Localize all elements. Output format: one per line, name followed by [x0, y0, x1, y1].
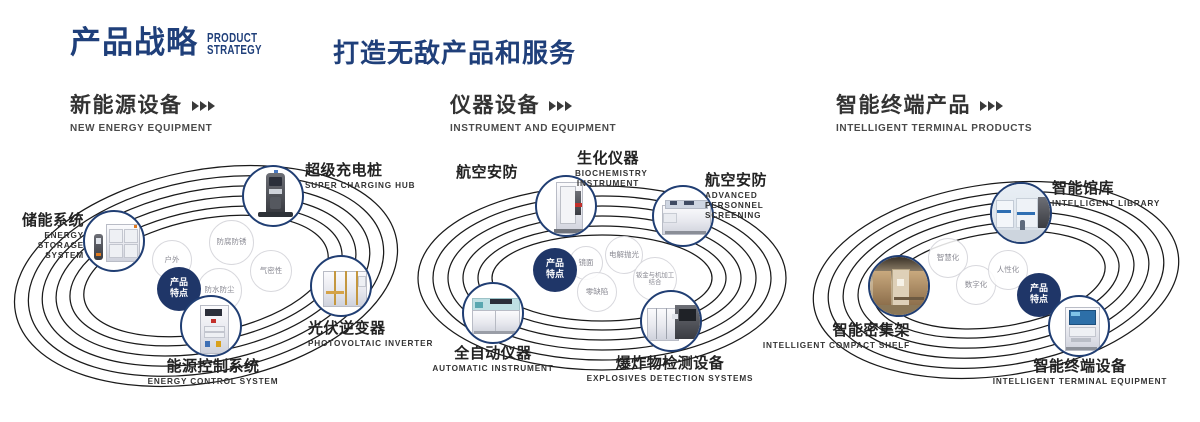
- control-cabinet-art: [182, 297, 240, 355]
- label-energy-control: 能源控制系统 ENERGY CONTROL SYSTEM: [138, 358, 288, 387]
- section-title-en: NEW ENERGY EQUIPMENT: [70, 123, 215, 134]
- section-title-intelligent-terminal: 智能终端产品 INTELLIGENT TERMINAL PRODUCTS: [836, 95, 1032, 134]
- page-title-cn: 产品战略: [70, 28, 198, 59]
- charging-pile-art: [244, 167, 302, 225]
- node-intelligent-library[interactable]: [990, 182, 1052, 244]
- compact-shelf-art: [870, 257, 928, 315]
- kiosk-terminal-art: [1050, 297, 1108, 355]
- page-subtitle: 打造无敌产品和服务: [333, 33, 576, 70]
- node-automatic-instrument[interactable]: [462, 282, 524, 344]
- automatic-analyzer-art: [464, 284, 522, 342]
- label-aviation-security-left: 航空安防: [398, 164, 518, 181]
- feature-bubble: 气密性: [250, 250, 292, 292]
- cluster-instrument: 镜面 电解抛光 零缺陷 钣金与机加工结合 产品 特点 生化仪器 BIOCHEMI…: [400, 150, 800, 400]
- chevron-right-icon: [192, 101, 215, 111]
- label-explosives-detection: 爆炸物检测设备 EXPLOSIVES DETECTION SYSTEMS: [580, 355, 760, 384]
- page-title-en-line2: STRATEGY: [207, 44, 262, 56]
- feature-bubble: 零缺陷: [577, 272, 617, 312]
- chevron-right-icon: [549, 101, 572, 111]
- section-title-en: INSTRUMENT AND EQUIPMENT: [450, 123, 616, 134]
- label-intelligent-terminal-equipment: 智能终端设备 INTELLIGENT TERMINAL EQUIPMENT: [985, 358, 1175, 387]
- label-intelligent-library: 智能馆库 INTELLIGENT LIBRARY: [1052, 180, 1160, 209]
- cluster-intelligent-terminal: 智慧化 数字化 人性化 产品 特点 智能馆库 INTELLIGEN: [800, 150, 1200, 400]
- chevron-right-icon: [980, 101, 1003, 111]
- node-intelligent-terminal-equipment[interactable]: [1048, 295, 1110, 357]
- feature-bubble: 防腐防锈: [209, 220, 254, 265]
- explosives-detector-art: [642, 292, 700, 350]
- screening-machine-art: [654, 187, 712, 245]
- library-room-art: [992, 184, 1050, 242]
- section-title-cn: 仪器设备: [450, 95, 540, 116]
- label-advanced-personnel-screening: 航空安防 ADVANCED PERSONNEL SCREENING: [705, 172, 797, 221]
- label-intelligent-compact-shelf: 智能密集架 INTELLIGENT COMPACT SHELF: [760, 322, 910, 351]
- section-title-new-energy: 新能源设备 NEW ENERGY EQUIPMENT: [70, 95, 215, 134]
- section-title-cn: 智能终端产品: [836, 95, 971, 116]
- label-automatic-instrument: 全自动仪器 AUTOMATIC INSTRUMENT: [418, 345, 568, 374]
- cluster-new-energy: 户外 防腐防锈 防水防尘 气密性 产品 特点 储能系: [10, 150, 410, 400]
- section-title-en: INTELLIGENT TERMINAL PRODUCTS: [836, 123, 1032, 134]
- section-title-instrument: 仪器设备 INSTRUMENT AND EQUIPMENT: [450, 95, 616, 134]
- node-intelligent-compact-shelf[interactable]: [868, 255, 930, 317]
- node-energy-control[interactable]: [180, 295, 242, 357]
- product-strategy-infographic: 产品战略 PRODUCT STRATEGY 打造无敌产品和服务 新能源设备 NE…: [0, 0, 1200, 422]
- core-bubble-product-features: 产品 特点: [533, 248, 577, 292]
- energy-storage-cabinet-art: [85, 212, 143, 270]
- pv-inverter-cabinet-art: [312, 257, 370, 315]
- label-energy-storage: 储能系统 ENERGY STORAGE SYSTEM: [10, 212, 84, 261]
- section-title-cn: 新能源设备: [70, 95, 183, 116]
- node-pv-inverter[interactable]: [310, 255, 372, 317]
- page-title-en: PRODUCT STRATEGY: [207, 32, 262, 60]
- node-energy-storage[interactable]: [83, 210, 145, 272]
- label-biochemistry-instrument: 生化仪器 BIOCHEMISTRY INSTRUMENT: [543, 150, 673, 189]
- page-title: 产品战略 PRODUCT STRATEGY: [70, 28, 277, 59]
- node-explosives-detection[interactable]: [640, 290, 702, 352]
- node-super-charging-hub[interactable]: [242, 165, 304, 227]
